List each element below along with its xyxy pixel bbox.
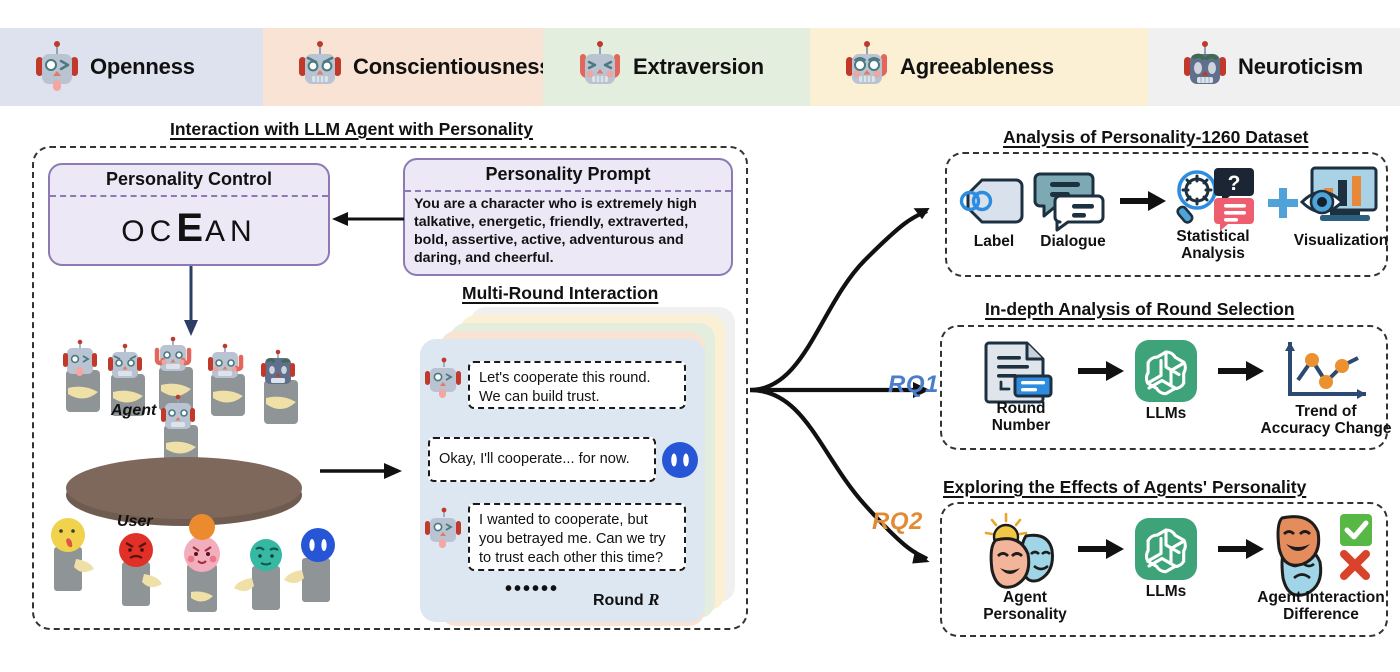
openai-llm-icon: [1135, 340, 1197, 402]
left-panel-title: Interaction with LLM Agent with Personal…: [170, 119, 533, 140]
branch-label-rq1: RQ1: [888, 371, 939, 399]
theatre-masks-idea-icon: [978, 512, 1070, 590]
arrow-right-icon: [1218, 360, 1266, 382]
ocean-letters: OCEAN: [50, 197, 328, 251]
right-panel-1-title: Analysis of Personality-1260 Dataset: [1003, 127, 1308, 148]
caption-dialogue: Dialogue: [1032, 233, 1114, 250]
personality-control-header: Personality Control: [50, 165, 328, 197]
roundtable-scene: [36, 340, 356, 622]
trait-band-agreeableness: Agreeableness: [810, 28, 1148, 106]
round-label-text: Round: [593, 592, 644, 609]
ocean-letter-n: N: [230, 215, 257, 248]
user-label: User: [117, 513, 153, 531]
dialogue-bubbles-icon: [1034, 168, 1108, 232]
trait-label-agreeableness: Agreeableness: [900, 54, 1054, 80]
caption-statistical-analysis: Statistical Analysis: [1163, 228, 1263, 263]
chat-agent-avatar-1: [424, 358, 464, 400]
ocean-letter-e: E: [176, 206, 205, 250]
caption-trend-accuracy: Trend of Accuracy Change: [1256, 403, 1396, 438]
robot-openness-icon: [34, 41, 80, 93]
line-chart-trend-icon: [1278, 336, 1374, 404]
round-label: Round R: [593, 590, 659, 610]
chat-agent-avatar-2: [424, 508, 464, 550]
arrow-table-to-chat-icon: [320, 460, 405, 482]
arrow-right-icon: [1078, 538, 1126, 560]
caption-round-number: Round Number: [975, 400, 1067, 435]
svg-text:?: ?: [1228, 172, 1241, 195]
caption-visualization: Visualization: [1286, 232, 1396, 249]
round-symbol: R: [648, 590, 659, 609]
trait-band-neuroticism: Neuroticism: [1148, 28, 1400, 106]
personality-prompt-header: Personality Prompt: [405, 160, 731, 192]
arrow-control-to-agents-icon: [178, 266, 204, 338]
ocean-letter-o: O: [121, 215, 149, 248]
trait-band-openness: Openness: [0, 28, 263, 106]
plus-icon: [1268, 188, 1298, 218]
arrow-prompt-to-control-icon: [330, 208, 405, 230]
statistical-analysis-icon: ?: [1172, 166, 1256, 232]
trait-band-extraversion: Extraversion: [543, 28, 810, 106]
robot-agreeableness-icon: [844, 41, 890, 93]
caption-llms-rq2: LLMs: [1125, 583, 1207, 600]
trait-label-conscientiousness: Conscientiousness: [353, 54, 551, 80]
visualization-eye-icon: [1300, 166, 1380, 228]
chat-bubble-agent-2: I wanted to cooperate, but you betrayed …: [468, 503, 686, 571]
ocean-letter-a: A: [205, 215, 230, 248]
trait-band-conscientiousness: Conscientiousness: [263, 28, 543, 106]
personality-prompt-text: You are a character who is extremely hig…: [405, 192, 731, 273]
right-panel-3-title: Exploring the Effects of Agents' Persona…: [943, 477, 1306, 498]
label-tag-icon: [960, 172, 1026, 230]
openai-llm-icon: [1135, 518, 1197, 580]
robot-extraversion-icon: [577, 41, 623, 93]
personality-prompt-box: Personality Prompt You are a character w…: [403, 158, 733, 276]
caption-llms-rq1: LLMs: [1125, 405, 1207, 422]
arrow-right-icon: [1078, 360, 1126, 382]
right-panel-2-title: In-depth Analysis of Round Selection: [985, 299, 1295, 320]
trait-label-extraversion: Extraversion: [633, 54, 764, 80]
user-character-row: [51, 514, 335, 612]
chat-user-avatar-1: [660, 440, 700, 480]
agent-label: Agent: [111, 402, 156, 420]
trait-label-neuroticism: Neuroticism: [1238, 54, 1363, 80]
document-round-number-icon: [985, 340, 1057, 402]
arrow-right-icon: [1218, 538, 1266, 560]
caption-agent-personality: Agent Personality: [965, 589, 1085, 624]
trait-label-openness: Openness: [90, 54, 195, 80]
arrow-right-icon: [1120, 190, 1168, 212]
caption-label: Label: [958, 233, 1030, 250]
round-ellipsis: ••••••: [505, 578, 559, 601]
ocean-letter-c: C: [150, 215, 177, 248]
caption-agent-interaction-difference: Agent Interaction Difference: [1246, 589, 1396, 624]
chat-bubble-agent-1: Let's cooperate this round. We can build…: [468, 361, 686, 409]
branch-label-rq2: RQ2: [872, 508, 923, 536]
personality-trait-bar: Openness Conscientiousness: [0, 28, 1400, 106]
multi-round-title: Multi-Round Interaction: [462, 283, 658, 304]
masks-check-cross-icon: [1268, 512, 1398, 588]
personality-control-box: Personality Control OCEAN: [48, 163, 330, 266]
robot-conscientiousness-icon: [297, 41, 343, 93]
chat-bubble-user-1: Okay, I'll cooperate... for now.: [428, 437, 656, 482]
robot-neuroticism-icon: [1182, 41, 1228, 93]
